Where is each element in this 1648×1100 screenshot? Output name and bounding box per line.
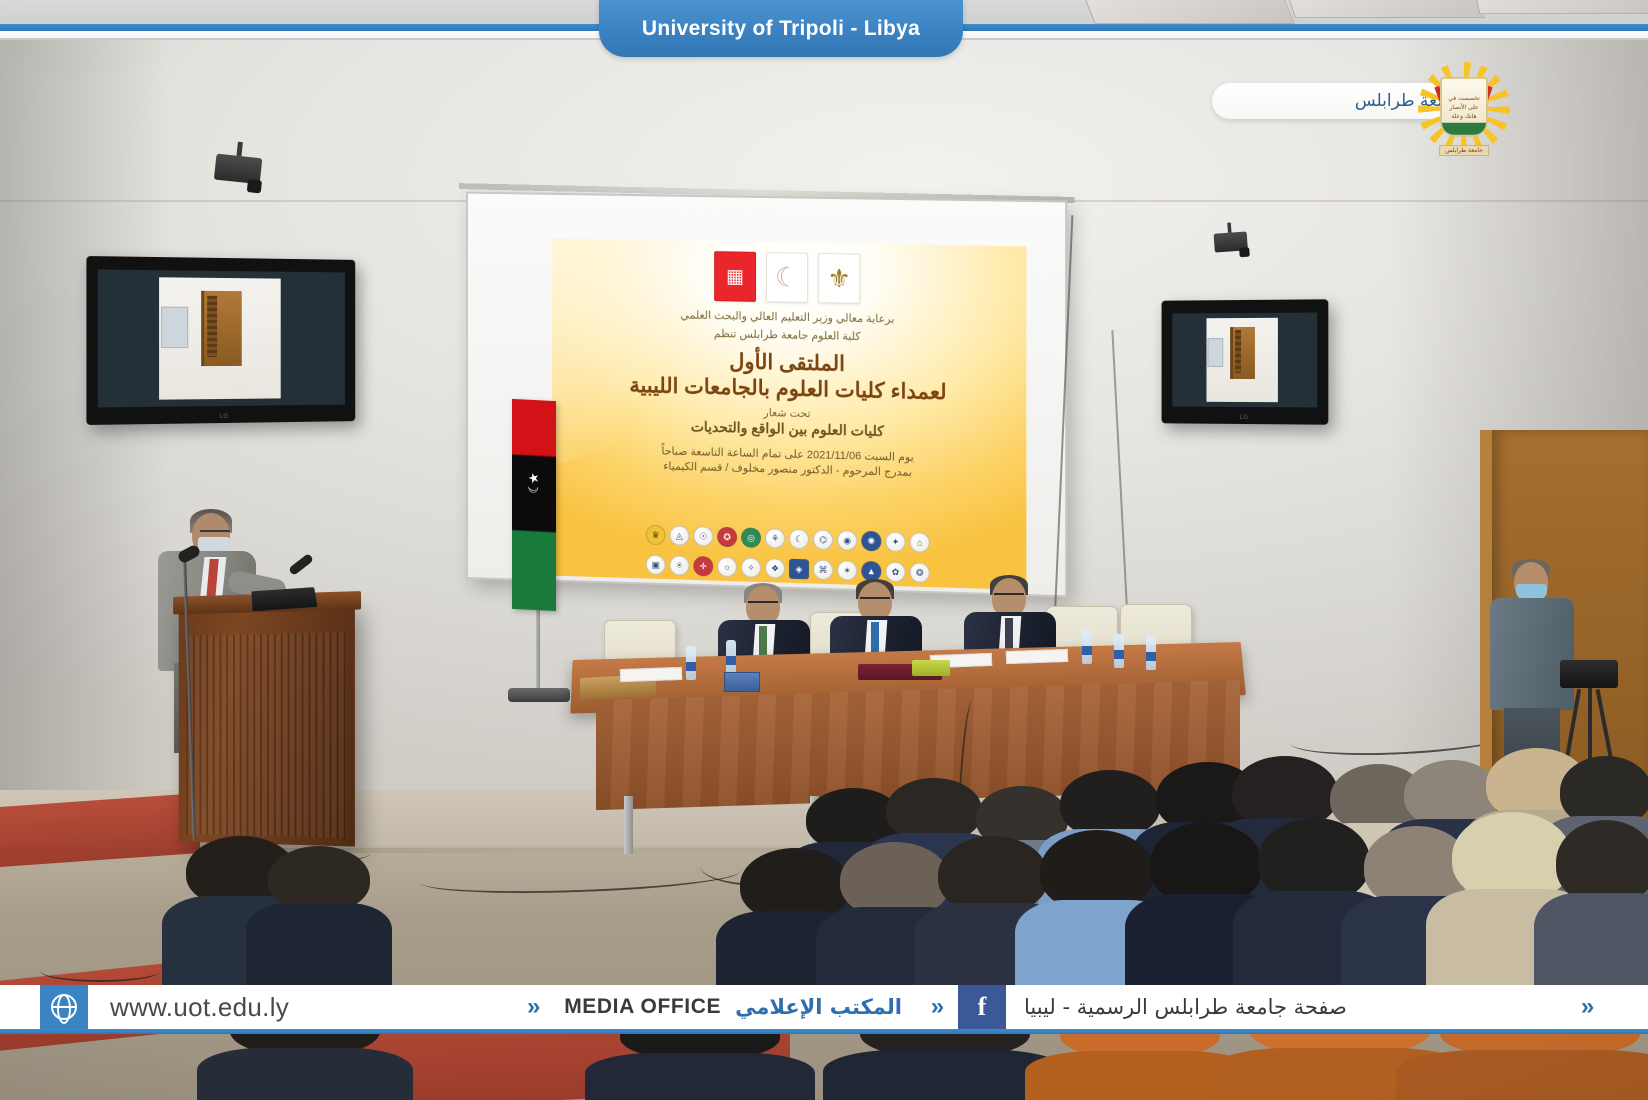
sponsor-logo: ✿ <box>885 562 905 583</box>
sponsor-logo: ☼ <box>717 557 737 578</box>
audience-member <box>268 846 370 964</box>
facebook-page-label[interactable]: صفحة جامعة طرابلس الرسمية - ليبيا <box>1006 985 1365 1029</box>
crest-line-2: على الأنصار <box>1449 103 1478 110</box>
sponsor-logo: ⍟ <box>669 555 689 576</box>
sponsor-logo: ✪ <box>717 527 737 548</box>
projection-screen-board: ⚜ ☾ ▦ برعاية معالي وزير التعليم العالي و… <box>466 192 1067 598</box>
crest-green-band <box>1442 123 1486 135</box>
bottom-accent-rule <box>0 1029 1648 1034</box>
ceiling-camera-icon <box>213 166 263 194</box>
sponsor-logo: ✛ <box>693 556 713 577</box>
event-poster: ⚜ ☾ ▦ برعاية معالي وزير التعليم العالي و… <box>552 238 1026 590</box>
page-title: University of Tripoli - Libya <box>642 17 920 41</box>
wooden-lectern <box>179 601 355 846</box>
crest-shield: تخصصت في على الأنصار هانك وعلة <box>1440 77 1488 137</box>
media-office-group: MEDIA OFFICE المكتب الإعلامي <box>554 985 912 1029</box>
university-crest-logo: تخصصت في على الأنصار هانك وعلة جامعة طرا… <box>1416 58 1512 158</box>
tv-brand-label: LG <box>1240 415 1249 421</box>
sponsor-logo: ◎ <box>741 527 761 548</box>
bottom-bar-gap-1 <box>311 985 508 1029</box>
website-icon-box[interactable] <box>40 985 88 1029</box>
globe-icon <box>51 994 77 1020</box>
papers <box>620 667 682 682</box>
screenshot-frame: LG LG ⚜ ☾ ▦ برعاية معالي وزير التعليم ال… <box>0 0 1648 1100</box>
libya-flag-icon <box>512 399 556 611</box>
ceiling-camera-icon <box>1214 240 1250 259</box>
conference-hall-photo: LG LG ⚜ ☾ ▦ برعاية معالي وزير التعليم ال… <box>0 0 1648 1100</box>
poster-emblem-row: ⚜ ☾ ▦ <box>714 251 860 304</box>
sponsor-logo: ♛ <box>646 525 666 545</box>
water-bottle <box>686 646 696 680</box>
papers <box>1006 649 1068 664</box>
crest-line-3: هانك وعلة <box>1451 112 1476 119</box>
tv-brand-label: LG <box>220 414 229 420</box>
water-bottle <box>1082 630 1092 664</box>
sponsor-logo: ◬ <box>669 525 689 545</box>
sponsor-logo-row-2: ❂ ✿ ▲ ✶ ⌘ ◈ ❖ ✧ ☼ ✛ ⍟ ▣ <box>552 552 1026 586</box>
double-chevron-right-icon: » <box>508 985 554 1029</box>
audience-member <box>1556 820 1648 972</box>
sponsor-logo: ✦ <box>885 531 905 552</box>
double-chevron-right-icon: » <box>1562 985 1608 1029</box>
sponsor-logo: ⌂ <box>910 532 930 553</box>
website-url[interactable]: www.uot.edu.ly <box>88 985 311 1029</box>
sponsor-logo: ▣ <box>646 555 666 576</box>
bottom-bar-left-spacer <box>0 985 40 1029</box>
bottom-bar-right-spacer <box>1608 985 1648 1029</box>
bottom-info-bar: www.uot.edu.ly » MEDIA OFFICE المكتب الإ… <box>0 985 1648 1029</box>
video-camera-icon <box>1560 660 1618 688</box>
facebook-f-icon: f <box>978 994 987 1020</box>
sponsor-logo: ✧ <box>741 557 761 578</box>
bottom-bar-gap-2 <box>1365 985 1562 1029</box>
crest-line-1: تخصصت في <box>1448 94 1480 101</box>
tissue-box <box>724 672 760 692</box>
red-institute-emblem-icon: ▦ <box>714 251 756 302</box>
sponsor-logo: ☾ <box>789 529 809 550</box>
water-bottle <box>1114 634 1124 668</box>
sponsor-logo-row-1: ⌂ ✦ ✺ ◉ ⌬ ☾ ⚘ ◎ ✪ ☉ ◬ ♛ <box>552 522 1026 556</box>
right-wall-tv: LG <box>1162 299 1329 424</box>
water-bottle <box>726 640 736 674</box>
media-office-label-en: MEDIA OFFICE <box>564 995 721 1019</box>
ceiling-panel <box>1081 0 1295 24</box>
sponsor-logo: ❂ <box>910 562 930 583</box>
sponsor-logo: ✺ <box>861 531 881 552</box>
sponsor-logo: ❖ <box>765 558 785 579</box>
sponsor-logo: ◉ <box>837 530 857 551</box>
sponsor-logo: ✶ <box>837 560 857 581</box>
floor-cable <box>40 960 160 982</box>
flag-base <box>508 688 570 702</box>
libya-state-emblem-icon: ⚜ <box>818 253 860 304</box>
double-chevron-right-icon: » <box>912 985 958 1029</box>
water-bottle <box>1146 636 1156 670</box>
sponsor-logo: ⌬ <box>813 529 833 550</box>
facebook-icon-box[interactable]: f <box>958 985 1006 1029</box>
sponsor-logo: ⌘ <box>813 559 833 580</box>
left-wall-tv: LG <box>86 256 355 425</box>
green-item-box <box>912 660 950 676</box>
sponsor-logo: ⚘ <box>765 528 785 549</box>
media-office-label-ar: المكتب الإعلامي <box>735 995 902 1019</box>
crest-ribbon-label: جامعة طرابلس <box>1439 145 1489 156</box>
ceiling-panel <box>1473 0 1648 14</box>
crescent-emblem-icon: ☾ <box>766 252 808 303</box>
sponsor-logo: ◈ <box>789 559 809 580</box>
top-title-tab: University of Tripoli - Libya <box>599 0 963 57</box>
wall-shadow-left <box>0 40 170 830</box>
sponsor-logo: ☉ <box>693 526 713 547</box>
ceiling-panel <box>1285 0 1485 18</box>
poster-organizer-line: كلية العلوم جامعة طرابلس تنظم <box>552 324 1026 347</box>
